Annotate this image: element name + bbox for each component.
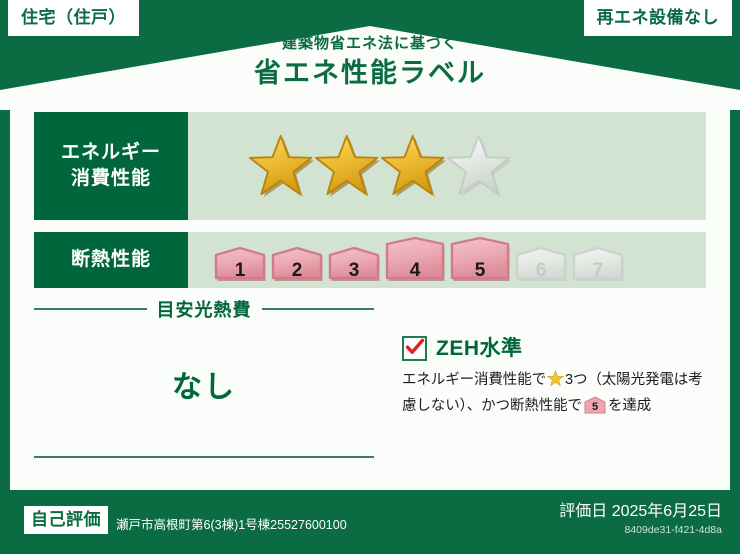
energy-performance-label-line1: エネルギー [61, 140, 161, 166]
house-step-number-6: 6 [515, 261, 567, 280]
zeh-title-row: ZEH水準 [402, 336, 712, 361]
house-step-1: 1 [214, 246, 266, 284]
utility-cost-value: なし [34, 362, 374, 406]
house-step-2: 2 [271, 246, 323, 284]
header-subtitle: 建築物省エネ法に基づく [0, 36, 740, 53]
energy-performance-value [188, 112, 706, 220]
header-titles: 建築物省エネ法に基づく 省エネ性能ラベル [0, 36, 740, 89]
utility-cost-header: 目安光熱費 [34, 296, 374, 322]
insulation-performance-label: 断熱性能 [34, 232, 188, 288]
star-icon-4 [446, 133, 514, 199]
energy-performance-label-line2: 消費性能 [71, 166, 151, 192]
utility-cost-rule-right [262, 308, 375, 310]
evaluation-id: 8409de31-f421-4d8a [559, 524, 722, 537]
utility-cost-section: 目安光熱費 なし [34, 296, 374, 476]
insulation-performance-label-line1: 断熱性能 [71, 247, 151, 273]
footer-left-group: 自己評価 瀬戸市高根町第6(3棟)1号棟25527600100 [24, 506, 347, 534]
house-step-number-3: 3 [328, 261, 380, 280]
star-icon-2 [314, 133, 382, 199]
zeh-description-part1: エネルギー消費性能で [402, 372, 546, 388]
badge-renewable-energy-label: 再エネ設備なし [597, 8, 720, 27]
footer-right-group: 評価日 2025年6月25日 8409de31-f421-4d8a [559, 502, 722, 537]
utility-cost-title: 目安光熱費 [157, 296, 252, 322]
inline-house-badge-number: 5 [584, 402, 606, 413]
evaluation-date-value: 2025年6月25日 [612, 503, 722, 520]
zeh-title: ZEH水準 [436, 338, 523, 359]
self-evaluation-badge: 自己評価 [24, 506, 108, 534]
header-title: 省エネ性能ラベル [0, 57, 740, 89]
badge-building-type-label: 住宅（住戸） [21, 8, 126, 27]
inline-star-icon [547, 370, 564, 395]
star-icon-3 [380, 133, 448, 199]
house-step-5: 5 [450, 236, 510, 284]
energy-performance-row: エネルギー 消費性能 [34, 112, 706, 220]
energy-performance-label: エネルギー 消費性能 [34, 112, 188, 220]
house-step-number-5: 5 [450, 261, 510, 280]
zeh-section: ZEH水準 エネルギー消費性能で3つ（太陽光発電は考慮しない）、かつ断熱性能で5… [402, 336, 712, 419]
energy-label-root: 住宅（住戸） 再エネ設備なし 建築物省エネ法に基づく 省エネ性能ラベル エネルギ… [0, 0, 740, 554]
house-step-3: 3 [328, 246, 380, 284]
zeh-description-part3: を達成 [608, 398, 651, 414]
insulation-performance-value: 1234567 [188, 232, 706, 288]
badge-building-type: 住宅（住戸） [8, 0, 139, 36]
inline-house-badge-icon: 5 [584, 396, 606, 414]
property-address: 瀬戸市高根町第6(3棟)1号棟25527600100 [116, 519, 347, 535]
label-body-card: エネルギー 消費性能 断熱性能 1234567 目安光熱費 なし [10, 96, 730, 490]
checkmark-icon [403, 335, 427, 359]
zeh-checkbox[interactable] [402, 336, 427, 361]
house-step-4: 4 [385, 236, 445, 284]
house-step-number-1: 1 [214, 261, 266, 280]
house-step-7: 7 [572, 246, 624, 284]
evaluation-date-label: 評価日 [559, 503, 607, 520]
evaluation-date: 評価日 2025年6月25日 [559, 502, 722, 521]
utility-cost-rule-bottom [34, 456, 374, 458]
house-step-number-2: 2 [271, 261, 323, 280]
footer-bar: 自己評価 瀬戸市高根町第6(3棟)1号棟25527600100 評価日 2025… [0, 490, 740, 554]
house-rating-scale: 1234567 [214, 236, 624, 284]
star-rating [248, 133, 512, 199]
house-step-6: 6 [515, 246, 567, 284]
insulation-performance-row: 断熱性能 1234567 [34, 232, 706, 288]
house-step-number-4: 4 [385, 261, 445, 280]
utility-cost-rule-left [34, 308, 147, 310]
zeh-description: エネルギー消費性能で3つ（太陽光発電は考慮しない）、かつ断熱性能で5を達成 [402, 369, 712, 419]
house-step-number-7: 7 [572, 261, 624, 280]
badge-renewable-energy: 再エネ設備なし [584, 0, 733, 36]
star-icon-1 [248, 133, 316, 199]
